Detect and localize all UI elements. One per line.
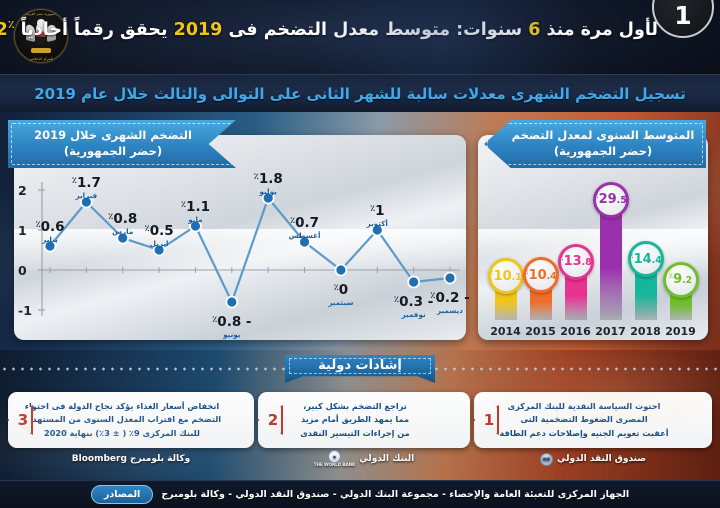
bar-value-bubble: ٪29.5 — [593, 182, 629, 218]
praise-line-3: للبنك المركزى 9٪ ( ± 3٪) بنهاية 2020 — [44, 428, 200, 438]
line-point-label: ٪0.7أغسطس — [289, 212, 321, 239]
annual-title-line-2: (حضر الجمهورية) — [554, 144, 652, 160]
line-point-month: مارس — [108, 228, 137, 235]
line-point-label: ٪0.5ابريل — [145, 220, 174, 247]
praise-card: 1احتوت السياسة النقدية للبنك المركزىالمص… — [474, 392, 712, 448]
world-bank-logo-icon: ◉ — [328, 450, 341, 463]
praise-card-text: انخفاض أسعار الغذاء يؤكد نجاح الدولة فى … — [23, 400, 221, 440]
title-highlight-2019: 2019 — [174, 20, 223, 40]
line-point-month: مايو — [181, 216, 210, 223]
header-bar: جمهورية مصر العربية المركز الإعلامي لأول… — [0, 0, 720, 74]
title-highlight-92: 9.2 — [0, 20, 8, 40]
bar-year-label: 2018 — [630, 325, 661, 338]
praise-line-3: من إجراءات التيسير النقدى — [300, 428, 410, 438]
bar-value-text: ٪10.1 — [489, 269, 521, 284]
title-percent-sign: ٪ — [8, 18, 15, 31]
bar-value-text: ٪10.4 — [524, 268, 556, 283]
infographic-root: جمهورية مصر العربية المركز الإعلامي لأول… — [0, 0, 720, 508]
praise-line-1: انخفاض أسعار الغذاء يؤكد نجاح الدولة فى … — [25, 401, 219, 411]
world-bank-sublabel: THE WORLD BANK — [314, 463, 355, 467]
eagle-of-saladin-icon — [26, 19, 56, 53]
line-point-label: ٪0.8مارس — [108, 208, 137, 235]
monthly-title-line-1: التضخم الشهرى خلال 2019 — [34, 128, 192, 144]
line-point-month: أغسطس — [289, 232, 321, 239]
bar-year-label: 2017 — [595, 325, 626, 338]
praise-card: 2تراجع التضخم بشكل كبير،مما يمهد الطريق … — [258, 392, 470, 448]
line-point-value: ٪0.8 - — [212, 316, 251, 330]
bar-value-text: ٪13.8 — [559, 254, 591, 269]
imf-logo-icon: IMF — [540, 453, 553, 466]
bar-year-label: 2014 — [490, 325, 521, 338]
line-chart-point — [407, 276, 420, 289]
line-chart-point — [444, 272, 457, 285]
bar-value-text: ٪14.4 — [629, 252, 661, 267]
praise-line-2: التضخم مع اقتراب المعدل السنوى من المسته… — [23, 414, 221, 424]
praise-banner-label: إشادات دولية — [285, 355, 435, 383]
y-axis-tick-label: 1- — [18, 303, 34, 318]
line-point-label: ٪1.7فبراير — [72, 172, 101, 199]
line-point-month: يوليو — [254, 188, 283, 195]
bar-value-text: ٪29.5 — [594, 192, 626, 207]
praise-card-source: وكالة بلومبرج Bloomberg — [8, 451, 254, 467]
title-part-1: لأول مرة منذ — [546, 20, 658, 40]
bar-column — [600, 204, 622, 320]
bar-year-label: 2019 — [665, 325, 696, 338]
line-point-label: ٪1.1مايو — [181, 196, 210, 223]
line-point-value: ٪1.8 — [254, 173, 283, 187]
bar-value-bubble: ٪10.1 — [488, 258, 524, 294]
line-point-month: ديسمبر — [430, 307, 469, 314]
praise-line-2: المصرى الضغوط التضخمية التى — [520, 414, 647, 424]
line-point-value: ٪0.8 — [108, 213, 137, 227]
line-point-month: سبتمبر — [328, 299, 353, 306]
subtitle-bar: تسجيل التضخم الشهرى معدلات سالبة للشهر ا… — [0, 74, 720, 112]
praise-card-number: 3 — [7, 405, 33, 435]
line-point-label: ٪0.3 -نوفمبر — [394, 291, 433, 318]
line-point-month: فبراير — [72, 192, 101, 199]
slide-number-badge: 1 — [652, 0, 714, 38]
praise-line-2: مما يمهد الطريق أمام مزيد — [301, 414, 409, 424]
title-part-2: سنوات: متوسط معدل التضخم فى — [228, 20, 522, 40]
praise-card-text: احتوت السياسة النقدية للبنك المركزىالمصر… — [500, 400, 669, 440]
praise-card-source: البنك الدولي◉THE WORLD BANK — [258, 451, 470, 467]
line-point-label: ٪1.8يوليو — [254, 168, 283, 195]
monthly-title-line-2: (حضر الجمهورية) — [64, 144, 162, 160]
line-point-value: ٪0.3 - — [394, 296, 433, 310]
line-point-label: ٪1أكتوبر — [367, 200, 388, 227]
line-point-value: ٪0.5 — [145, 225, 174, 239]
subtitle-text: تسجيل التضخم الشهرى معدلات سالبة للشهر ا… — [34, 85, 686, 103]
praise-card-number: 2 — [257, 405, 283, 435]
praise-line-1: احتوت السياسة النقدية للبنك المركزى — [508, 401, 661, 411]
line-point-month: يونيو — [212, 331, 251, 338]
y-axis-tick-label: 0 — [18, 263, 34, 278]
line-point-value: ٪0.7 — [290, 217, 319, 231]
praise-card-number: 1 — [473, 405, 499, 435]
sources-label: المصادر — [91, 485, 153, 504]
bar-value-bubble: ٪9.2 — [663, 262, 699, 298]
line-point-value: ٪0.6 — [35, 221, 64, 235]
page-title: لأول مرة منذ 6 سنوات: متوسط معدل التضخم … — [74, 18, 658, 40]
emblem-top-text: جمهورية مصر العربية — [14, 12, 68, 16]
line-chart-point — [225, 296, 238, 309]
title-part-3: يحقق رقماً أحادياً — [21, 20, 168, 40]
bar-year-label: 2015 — [525, 325, 556, 338]
line-point-month: ابريل — [145, 240, 174, 247]
line-point-month: نوفمبر — [394, 311, 433, 318]
sources-bar: الجهاز المركزى للتعبئة العامة والإحصاء -… — [0, 480, 720, 508]
annual-title-line-1: المتوسط السنوى لمعدل التضخم — [512, 128, 695, 144]
line-point-label: ٪0.8 -يونيو — [212, 311, 251, 338]
bar-value-bubble: ٪10.4 — [523, 257, 559, 293]
praise-line-1: تراجع التضخم بشكل كبير، — [303, 401, 407, 411]
egypt-cabinet-media-center-emblem: جمهورية مصر العربية المركز الإعلامي — [12, 7, 70, 65]
line-point-label: ٪0سبتمبر — [328, 279, 353, 306]
line-point-label: ٪0.2 -ديسمبر — [430, 287, 469, 314]
bar-year-label: 2016 — [560, 325, 591, 338]
praise-source-name: صندوق النقد الدولي — [557, 454, 646, 464]
bar-value-bubble: ٪14.4 — [628, 241, 664, 277]
bar-chart: ٪10.12014٪10.42015٪13.82016٪29.52017٪14.… — [478, 163, 708, 340]
annual-inflation-panel-title: المتوسط السنوى لمعدل التضخم (حضر الجمهور… — [484, 120, 706, 168]
bar-value-text: ٪9.2 — [669, 272, 692, 287]
praise-card: 3انخفاض أسعار الغذاء يؤكد نجاح الدولة فى… — [8, 392, 254, 448]
line-point-value: ٪1 — [370, 205, 385, 219]
line-chart: 2101- ٪0.6يناير٪1.7فبراير٪0.8مارس٪0.5ابر… — [14, 160, 466, 340]
emblem-bottom-text: المركز الإعلامي — [14, 57, 68, 61]
line-point-value: ٪1.1 — [181, 201, 210, 215]
bar-value-bubble: ٪13.8 — [558, 244, 594, 280]
praise-line-3: أعقبت تعويم الجنيه وإصلاحات دعم الطاقة — [500, 428, 669, 438]
international-praise-section: إشادات دولية 1احتوت السياسة النقدية للبن… — [0, 350, 720, 480]
sources-text: الجهاز المركزى للتعبئة العامة والإحصاء -… — [161, 489, 629, 500]
line-point-month: يناير — [35, 236, 64, 243]
line-chart-point — [335, 264, 348, 277]
line-point-value: ٪0 — [334, 284, 349, 298]
line-point-value: ٪0.2 - — [430, 292, 469, 306]
line-point-value: ٪1.7 — [72, 177, 101, 191]
praise-card-text: تراجع التضخم بشكل كبير،مما يمهد الطريق أ… — [300, 400, 410, 440]
y-axis-tick-label: 2 — [18, 183, 34, 198]
line-point-label: ٪0.6يناير — [35, 216, 64, 243]
line-point-month: أكتوبر — [367, 220, 388, 227]
praise-source-name: البنك الدولي — [359, 454, 414, 464]
praise-card-source: صندوق النقد الدوليIMF — [474, 451, 712, 467]
praise-source-name: وكالة بلومبرج Bloomberg — [72, 454, 190, 464]
title-highlight-6: 6 — [528, 20, 540, 40]
y-axis-tick-label: 1 — [18, 223, 34, 238]
